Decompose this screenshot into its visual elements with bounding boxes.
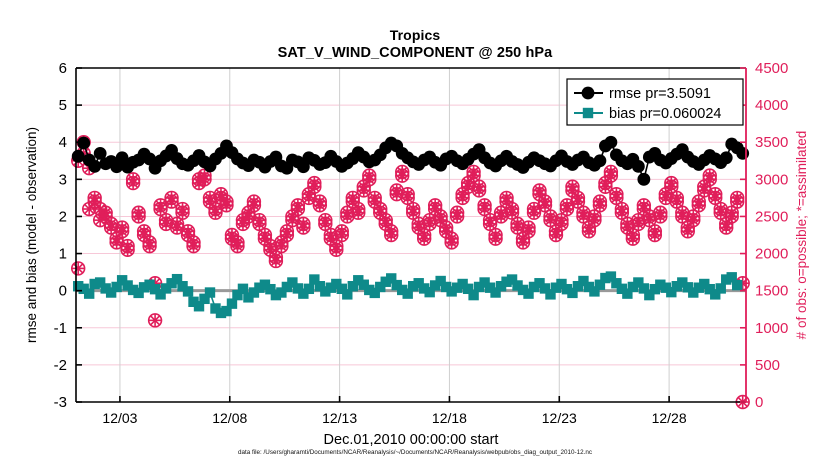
- chart-figure: Tropics SAT_V_WIND_COMPONENT @ 250 hPa -…: [0, 0, 830, 470]
- y-axis-right-label: 1500: [755, 283, 788, 300]
- x-axis-label: 12/18: [432, 410, 467, 426]
- x-axis-label: 12/03: [102, 410, 137, 426]
- y-axis-left-label: -2: [54, 357, 67, 374]
- marker-square: [716, 283, 726, 293]
- series-bias: [73, 271, 742, 318]
- y-axis-right-label: 4500: [755, 60, 788, 77]
- data-file-caption: data file: /Users/gharamti/Documents/NCA…: [0, 449, 830, 456]
- marker-circle: [72, 150, 85, 163]
- marker-square: [732, 280, 742, 290]
- y-axis-left-label: 2: [59, 208, 67, 225]
- x-axis-ticks: 12/0312/0812/1312/1812/2312/28Dec.01,201…: [102, 396, 686, 448]
- y-axis-left-title: rmse and bias (model - observation): [24, 127, 39, 343]
- series-rmse: [72, 136, 749, 186]
- legend-label: rmse pr=3.5091: [609, 86, 711, 102]
- y-axis-left-label: -1: [54, 320, 67, 337]
- y-axis-left-label: 5: [59, 97, 67, 114]
- y-axis-right-label: 0: [755, 394, 763, 411]
- x-axis-title: Dec.01,2010 00:00:00 start: [324, 432, 499, 448]
- y-axis-right-title: # of obs: o=possible; *=assimilated: [794, 131, 809, 340]
- marker-circle: [605, 136, 618, 149]
- y-axis-right-label: 4000: [755, 97, 788, 114]
- y-axis-right-label: 500: [755, 357, 780, 374]
- x-axis-label: 12/13: [322, 410, 357, 426]
- plot-canvas: -3-2-10123456rmse and bias (model - obse…: [0, 0, 830, 470]
- legend-label: bias pr=0.060024: [609, 106, 721, 122]
- y-axis-left-label: 0: [59, 283, 67, 300]
- y-axis-right-label: 2000: [755, 246, 788, 263]
- y-axis-left-ticks: -3-2-10123456rmse and bias (model - obse…: [24, 60, 82, 411]
- marker-square: [205, 287, 215, 297]
- marker-circle: [632, 160, 645, 173]
- marker-circle: [582, 87, 595, 100]
- legend[interactable]: rmse pr=3.5091bias pr=0.060024: [567, 79, 743, 125]
- x-axis-label: 12/23: [542, 410, 577, 426]
- y-axis-left-label: 1: [59, 246, 67, 263]
- y-axis-right-label: 2500: [755, 208, 788, 225]
- marker-circle: [720, 151, 733, 164]
- marker-circle: [88, 160, 101, 173]
- marker-square: [84, 288, 94, 298]
- y-axis-right-label: 1000: [755, 320, 788, 337]
- y-axis-right-label: 3000: [755, 171, 788, 188]
- marker-circle: [637, 173, 650, 186]
- marker-square: [183, 286, 193, 296]
- x-axis-label: 12/28: [652, 410, 687, 426]
- marker-circle: [736, 147, 749, 160]
- y-axis-right-label: 3500: [755, 134, 788, 151]
- marker-circle: [594, 154, 607, 167]
- y-axis-left-label: 6: [59, 60, 67, 77]
- marker-square: [583, 108, 593, 118]
- y-axis-left-label: 4: [59, 134, 67, 151]
- y-axis-left-label: 3: [59, 171, 67, 188]
- y-axis-right-ticks: 050010001500200025003000350040004500# of…: [740, 60, 809, 411]
- y-axis-left-label: -3: [54, 394, 67, 411]
- x-axis-label: 12/08: [212, 410, 247, 426]
- marker-square: [304, 284, 314, 294]
